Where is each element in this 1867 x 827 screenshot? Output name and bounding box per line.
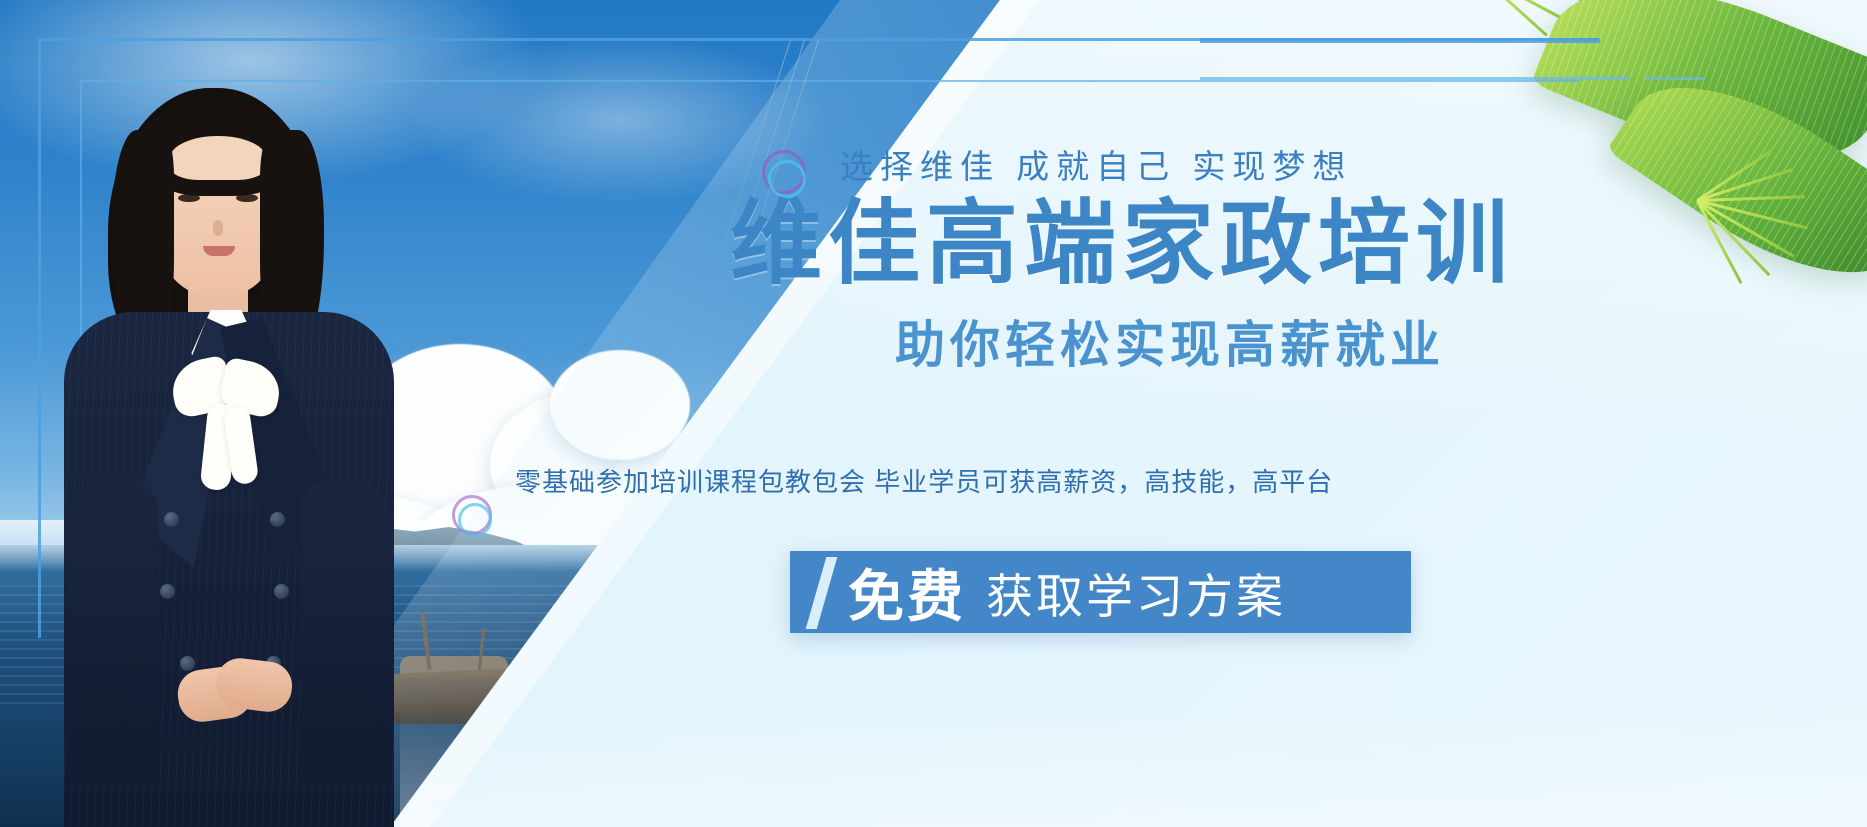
- blazer-button: [160, 584, 175, 599]
- free-learning-plan-button[interactable]: 免费 获取学习方案: [790, 551, 1411, 633]
- banner-subline: 助你轻松实现高薪就业: [895, 305, 1655, 377]
- ribbon-bow: [168, 360, 288, 492]
- mouth: [203, 246, 235, 256]
- cta-label: 获取学习方案: [986, 558, 1286, 627]
- cta-emphasis-label: 免费: [848, 552, 966, 633]
- blazer-button: [270, 512, 285, 527]
- instructor-portrait: [60, 60, 400, 827]
- clasped-hands: [178, 660, 296, 746]
- banner-headline: 维佳高端家政培训: [730, 196, 1590, 293]
- arm-left: [66, 480, 158, 780]
- nose: [213, 220, 223, 236]
- banner-tagline: 选择维佳 成就自己 实现梦想: [840, 140, 1540, 188]
- banner-copy: 选择维佳 成就自己 实现梦想 维佳高端家政培训 助你轻松实现高薪就业 零基础参加…: [840, 0, 1860, 827]
- circle-accent-icon-small-inner: [458, 503, 492, 537]
- slash-icon: [790, 551, 832, 633]
- banner-body-text: 零基础参加培训课程包教包会 毕业学员可获高薪资，高技能，高平台: [515, 462, 1695, 499]
- arm-right: [300, 480, 392, 780]
- blazer-button: [274, 584, 289, 599]
- promo-banner: 选择维佳 成就自己 实现梦想 维佳高端家政培训 助你轻松实现高薪就业 零基础参加…: [0, 0, 1867, 827]
- blazer-button: [164, 512, 179, 527]
